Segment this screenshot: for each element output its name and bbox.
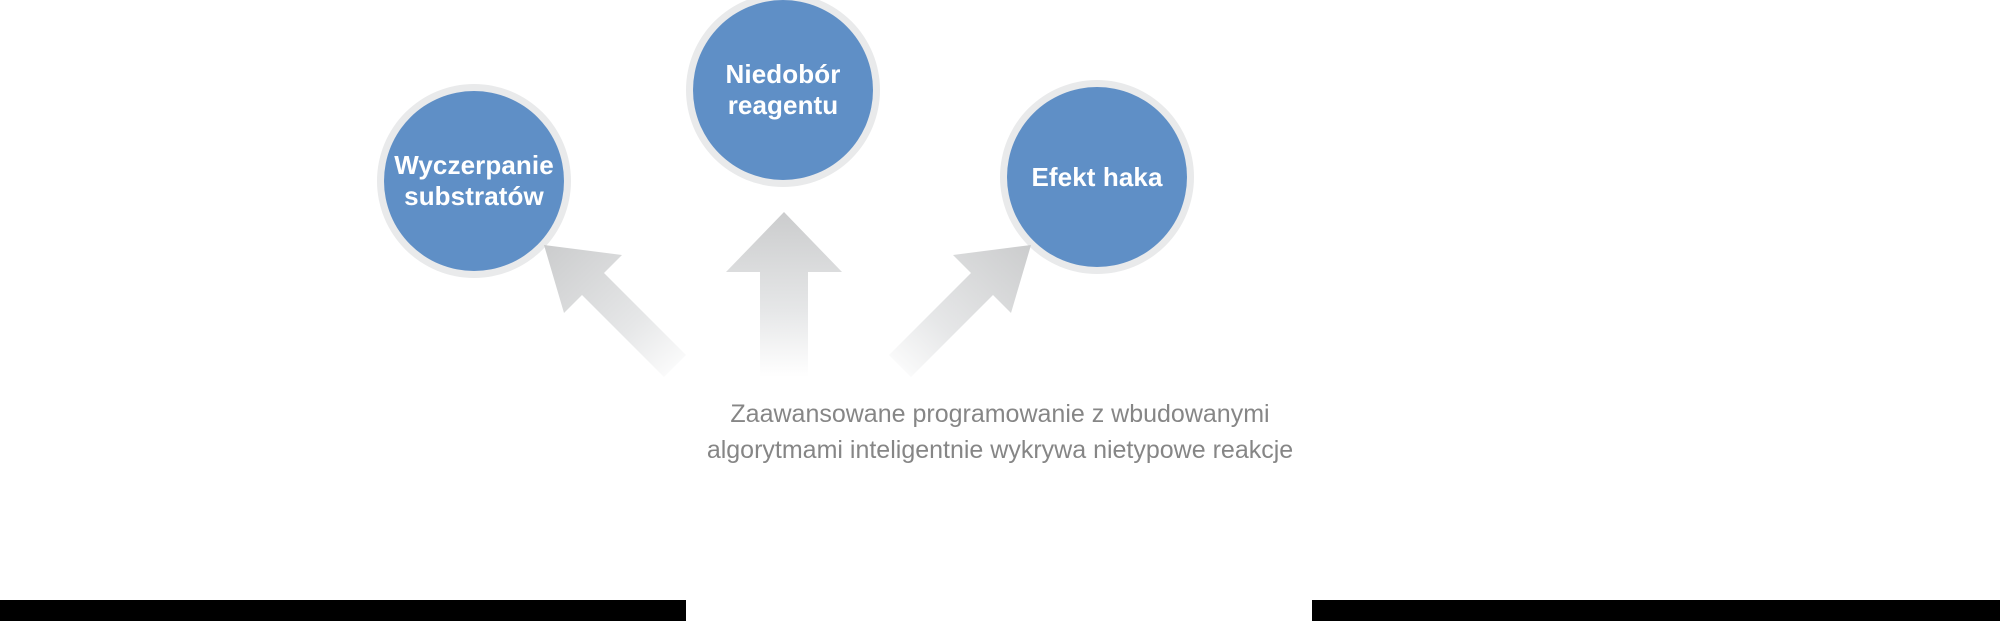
node-label: Wyczerpanie substratów: [384, 150, 564, 211]
arrow-up-right-icon: [885, 247, 1035, 377]
caption: Zaawansowane programowanie z wbudowanymi…: [0, 396, 2000, 469]
node-label: Efekt haka: [1021, 162, 1172, 193]
node-niedobor-reagentu[interactable]: Niedobór reagentu: [693, 0, 873, 180]
bottom-bar-right: [1312, 600, 2000, 621]
node-efekt-haka[interactable]: Efekt haka: [1007, 87, 1187, 267]
bottom-bar-left: [0, 600, 686, 621]
arrow-up-left-icon: [540, 247, 690, 377]
diagram-canvas: Wyczerpanie substratów Niedobór reagentu…: [0, 0, 2000, 621]
node-label: Niedobór reagentu: [716, 59, 851, 120]
caption-line-1: Zaawansowane programowanie z wbudowanymi: [0, 396, 2000, 432]
arrow-up-icon: [726, 212, 842, 377]
node-wyczerpanie-substratow[interactable]: Wyczerpanie substratów: [384, 91, 564, 271]
caption-line-2: algorytmami inteligentnie wykrywa nietyp…: [0, 432, 2000, 468]
